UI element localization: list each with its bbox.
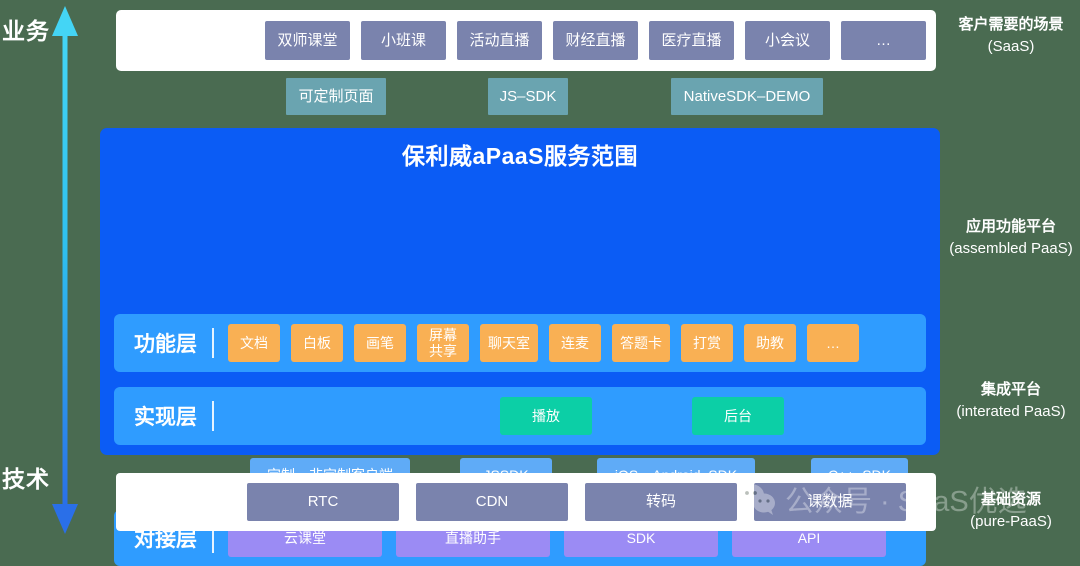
implementation-layer-items: 播放 后台 bbox=[228, 397, 926, 435]
scene-chip[interactable]: 医疗直播 bbox=[649, 21, 734, 60]
function-chip[interactable]: 助教 bbox=[744, 324, 796, 362]
scene-chip[interactable]: 活动直播 bbox=[457, 21, 542, 60]
axis-label-technology: 技术 bbox=[2, 460, 50, 494]
scenes-panel: 双师课堂 小班课 活动直播 财经直播 医疗直播 小会议 … bbox=[116, 10, 936, 71]
side-note-title: 应用功能平台 bbox=[946, 216, 1076, 238]
function-chip[interactable]: 画笔 bbox=[354, 324, 406, 362]
sdk-connector-chip[interactable]: 可定制页面 bbox=[286, 78, 386, 115]
sdk-connector-row: 可定制页面 JS–SDK NativeSDK–DEMO bbox=[0, 78, 1080, 115]
scene-chip[interactable]: 双师课堂 bbox=[265, 21, 350, 60]
implementation-chip[interactable]: 后台 bbox=[692, 397, 784, 435]
implementation-chip[interactable]: 播放 bbox=[500, 397, 592, 435]
function-chip[interactable]: 连麦 bbox=[549, 324, 601, 362]
scene-chip-more[interactable]: … bbox=[841, 21, 926, 60]
scene-chip[interactable]: 小班课 bbox=[361, 21, 446, 60]
scene-chip[interactable]: 小会议 bbox=[745, 21, 830, 60]
side-note-subtitle: (SaaS) bbox=[946, 36, 1076, 58]
function-layer-band: 功能层 文档 白板 画笔 屏幕 共享 聊天室 连麦 答题卡 打赏 助教 … bbox=[114, 314, 926, 372]
function-chip[interactable]: 答题卡 bbox=[612, 324, 670, 362]
resource-chip[interactable]: 转码 bbox=[585, 483, 737, 521]
implementation-layer-band: 实现层 播放 后台 bbox=[114, 387, 926, 445]
scene-chip[interactable]: 财经直播 bbox=[553, 21, 638, 60]
resource-chip[interactable]: CDN bbox=[416, 483, 568, 521]
apaas-panel-title: 保利威aPaaS服务范围 bbox=[100, 128, 940, 180]
resource-chip[interactable]: 课数据 bbox=[754, 483, 906, 521]
apaas-scope-panel: 保利威aPaaS服务范围 功能层 文档 白板 画笔 屏幕 共享 聊天室 连麦 答… bbox=[100, 128, 940, 455]
side-note-pure-paas: 基础资源 (pure-PaaS) bbox=[946, 489, 1076, 533]
resource-chip[interactable]: RTC bbox=[247, 483, 399, 521]
side-note-title: 客户需要的场景 bbox=[946, 14, 1076, 36]
function-chip[interactable]: 文档 bbox=[228, 324, 280, 362]
side-note-title: 基础资源 bbox=[946, 489, 1076, 511]
function-chip[interactable]: 打赏 bbox=[681, 324, 733, 362]
function-chip-screen-share[interactable]: 屏幕 共享 bbox=[417, 324, 469, 362]
sdk-connector-chip[interactable]: NativeSDK–DEMO bbox=[671, 78, 823, 115]
divider bbox=[212, 401, 214, 431]
side-note-subtitle: (interated PaaS) bbox=[946, 401, 1076, 423]
side-note-subtitle: (assembled PaaS) bbox=[946, 238, 1076, 260]
implementation-layer-label: 实现层 bbox=[134, 401, 212, 431]
function-chip[interactable]: 聊天室 bbox=[480, 324, 538, 362]
axis-label-business: 业务 bbox=[2, 12, 50, 46]
side-note-assembled-paas: 应用功能平台 (assembled PaaS) bbox=[946, 216, 1076, 260]
side-note-saas: 客户需要的场景 (SaaS) bbox=[946, 14, 1076, 58]
side-note-subtitle: (pure-PaaS) bbox=[946, 511, 1076, 533]
function-chip-more[interactable]: … bbox=[807, 324, 859, 362]
side-note-integrated-paas: 集成平台 (interated PaaS) bbox=[946, 379, 1076, 423]
divider bbox=[212, 328, 214, 358]
function-layer-items: 文档 白板 画笔 屏幕 共享 聊天室 连麦 答题卡 打赏 助教 … bbox=[228, 324, 870, 362]
sdk-connector-chip[interactable]: JS–SDK bbox=[488, 78, 568, 115]
function-chip[interactable]: 白板 bbox=[291, 324, 343, 362]
side-note-title: 集成平台 bbox=[946, 379, 1076, 401]
resources-panel: RTC CDN 转码 课数据 bbox=[116, 473, 936, 531]
function-layer-label: 功能层 bbox=[134, 328, 212, 358]
